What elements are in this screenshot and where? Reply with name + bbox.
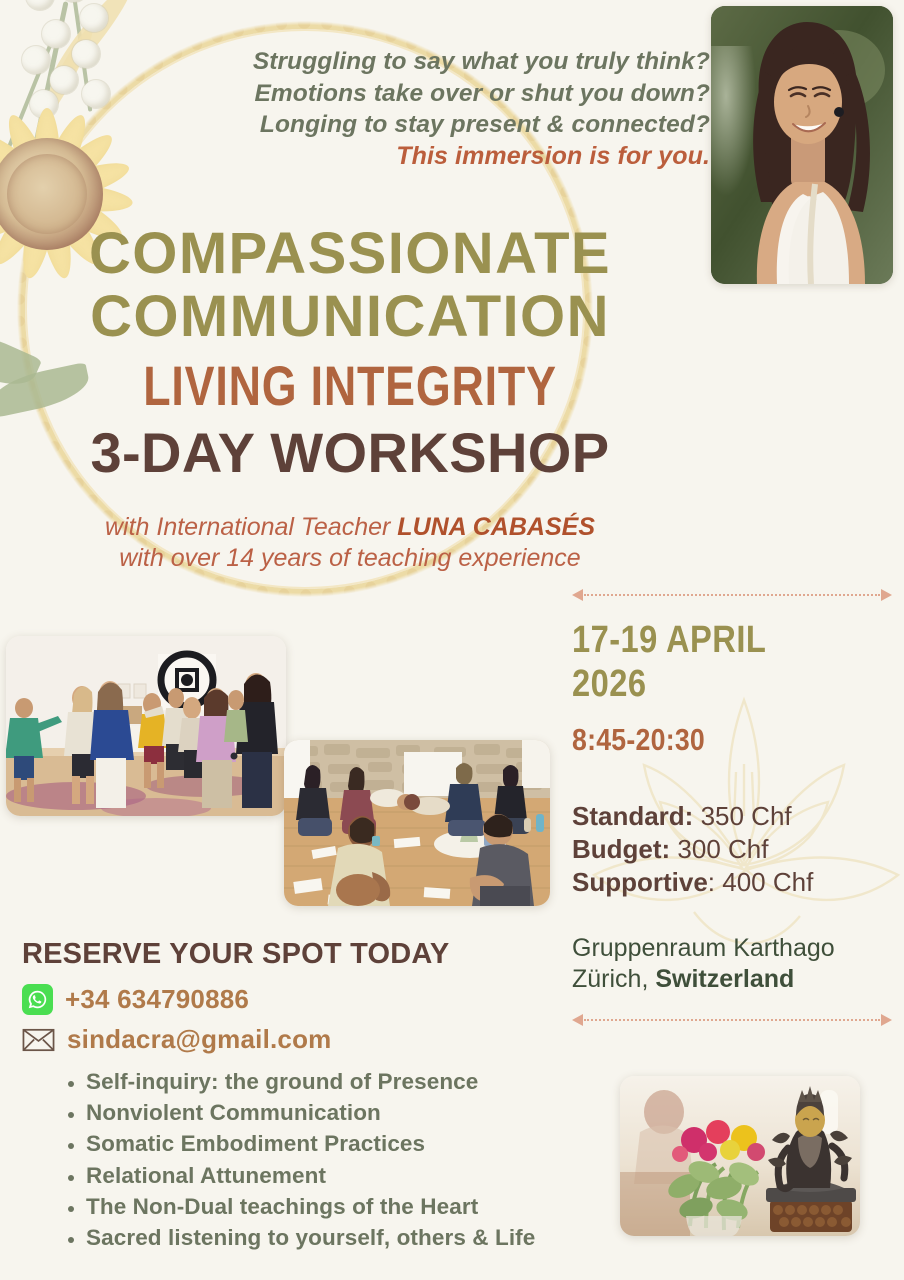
- contact-block: +34 634790886 sindacra@gmail.com: [22, 984, 332, 1064]
- envelope-icon: [22, 1028, 55, 1052]
- venue-room: Gruppenraum Karthago: [572, 933, 892, 964]
- topic-item: Nonviolent Communication: [86, 1097, 535, 1128]
- divider-line: [584, 594, 880, 596]
- price-row: Standard: 350 Chf: [572, 800, 892, 833]
- title-line-1: COMPASSIONATE: [0, 222, 700, 285]
- hook-accent-line: This immersion is for you.: [180, 141, 710, 173]
- event-details-column: 17-19 APRIL 2026 8:45-20:30 Standard: 35…: [572, 586, 892, 1043]
- pricing-list: Standard: 350 Chf Budget: 300 Chf Suppor…: [572, 800, 892, 899]
- title-line-2: COMMUNICATION: [0, 285, 700, 348]
- teacher-line: with International Teacher LUNA CABASÉS: [0, 512, 700, 543]
- contact-email-row[interactable]: sindacra@gmail.com: [22, 1024, 332, 1055]
- price-label: Budget:: [572, 834, 670, 864]
- divider-arrow-right-icon: [881, 1014, 892, 1026]
- price-value: 350 Chf: [693, 801, 791, 831]
- teacher-subtitle: with International Teacher LUNA CABASÉS …: [0, 512, 700, 574]
- hook-line-1: Struggling to say what you truly think?: [180, 46, 710, 78]
- contact-phone-number[interactable]: +34 634790886: [65, 984, 249, 1015]
- price-value: 300 Chf: [670, 834, 768, 864]
- teacher-experience: with over 14 years of teaching experienc…: [0, 543, 700, 574]
- divider-arrow-left-icon: [572, 589, 583, 601]
- poster-root: Struggling to say what you truly think? …: [0, 0, 904, 1280]
- topics-list: Self-inquiry: the ground of Presence Non…: [60, 1066, 535, 1253]
- contact-email-address[interactable]: sindacra@gmail.com: [67, 1024, 332, 1055]
- topic-item: The Non-Dual teachings of the Heart: [86, 1191, 535, 1222]
- teacher-lead-text: with International Teacher: [105, 513, 397, 541]
- price-label: Supportive: [572, 867, 708, 897]
- title-line-4: 3-DAY WORKSHOP: [0, 422, 700, 484]
- altar-statue-flowers-photo: [620, 1076, 860, 1236]
- whatsapp-icon: [22, 984, 53, 1015]
- topic-item: Somatic Embodiment Practices: [86, 1128, 535, 1159]
- main-title: COMPASSIONATE COMMUNICATION LIVING INTEG…: [0, 222, 700, 484]
- hook-line-3: Longing to stay present & connected?: [180, 109, 710, 141]
- workshop-sitting-circle-photo: [284, 740, 550, 906]
- teacher-portrait-photo: [711, 6, 893, 284]
- divider-arrow-right-icon: [881, 589, 892, 601]
- topic-item: Relational Attunement: [86, 1160, 535, 1191]
- divider-line: [584, 1019, 880, 1021]
- venue-block: Gruppenraum Karthago Zürich, Switzerland: [572, 933, 892, 995]
- price-label: Standard:: [572, 801, 693, 831]
- topic-item: Self-inquiry: the ground of Presence: [86, 1066, 535, 1097]
- price-value: : 400 Chf: [708, 867, 814, 897]
- hook-questions: Struggling to say what you truly think? …: [180, 46, 710, 172]
- contact-phone-row[interactable]: +34 634790886: [22, 984, 332, 1015]
- reserve-heading: RESERVE YOUR SPOT TODAY: [22, 938, 449, 971]
- title-line-3: LIVING INTEGRITY: [70, 354, 630, 418]
- topic-item: Sacred listening to yourself, others & L…: [86, 1222, 535, 1253]
- workshop-movement-photo: [6, 636, 286, 816]
- divider-top: [572, 588, 892, 602]
- event-dates: 17-19 APRIL 2026: [572, 618, 847, 706]
- hook-line-2: Emotions take over or shut you down?: [180, 78, 710, 110]
- divider-arrow-left-icon: [572, 1014, 583, 1026]
- price-row: Budget: 300 Chf: [572, 833, 892, 866]
- teacher-name: LUNA CABASÉS: [397, 513, 595, 541]
- event-times: 8:45-20:30: [572, 720, 847, 760]
- venue-country: Switzerland: [655, 965, 794, 993]
- price-row: Supportive: 400 Chf: [572, 866, 892, 899]
- venue-location: Zürich, Switzerland: [572, 964, 892, 995]
- divider-bottom: [572, 1013, 892, 1027]
- venue-city: Zürich,: [572, 965, 655, 993]
